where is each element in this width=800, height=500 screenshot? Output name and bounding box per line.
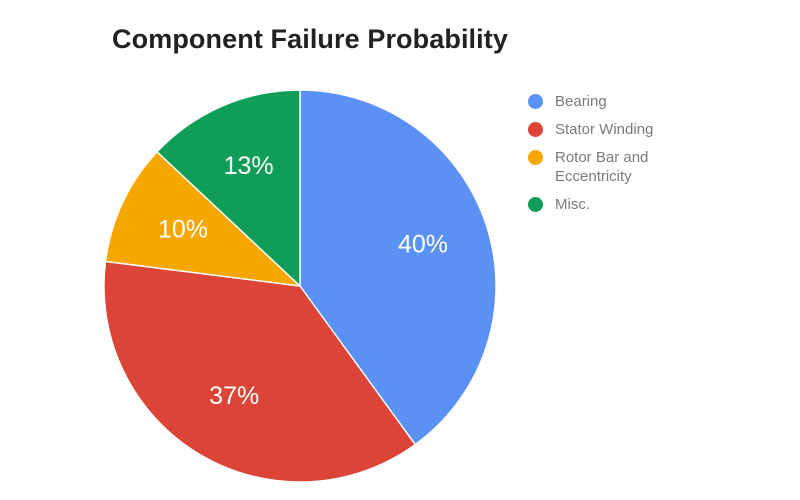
legend-color-swatch-icon: [528, 197, 543, 212]
legend-color-swatch-icon: [528, 150, 543, 165]
legend-color-swatch-icon: [528, 94, 543, 109]
pie-slice-label: 40%: [398, 231, 448, 259]
pie-slices-group: [104, 90, 496, 482]
legend-item[interactable]: Rotor Bar and Eccentricity: [528, 148, 778, 186]
legend-item-label: Stator Winding: [555, 120, 653, 139]
legend-item-label: Bearing: [555, 92, 607, 111]
pie-plot-area: 40%37%10%13%: [0, 0, 620, 500]
chart-legend: BearingStator WindingRotor Bar and Eccen…: [528, 92, 778, 223]
pie-slice-label: 13%: [224, 152, 274, 180]
legend-item-label: Misc.: [555, 195, 590, 214]
pie-slice-label: 37%: [209, 382, 259, 410]
legend-color-swatch-icon: [528, 122, 543, 137]
pie-chart-container: Component Failure Probability 40%37%10%1…: [0, 0, 800, 500]
pie-svg: 40%37%10%13%: [0, 0, 620, 500]
pie-slice-label: 10%: [158, 216, 208, 244]
legend-item[interactable]: Misc.: [528, 195, 778, 214]
legend-item-label: Rotor Bar and Eccentricity: [555, 148, 705, 186]
legend-item[interactable]: Stator Winding: [528, 120, 778, 139]
legend-item[interactable]: Bearing: [528, 92, 778, 111]
